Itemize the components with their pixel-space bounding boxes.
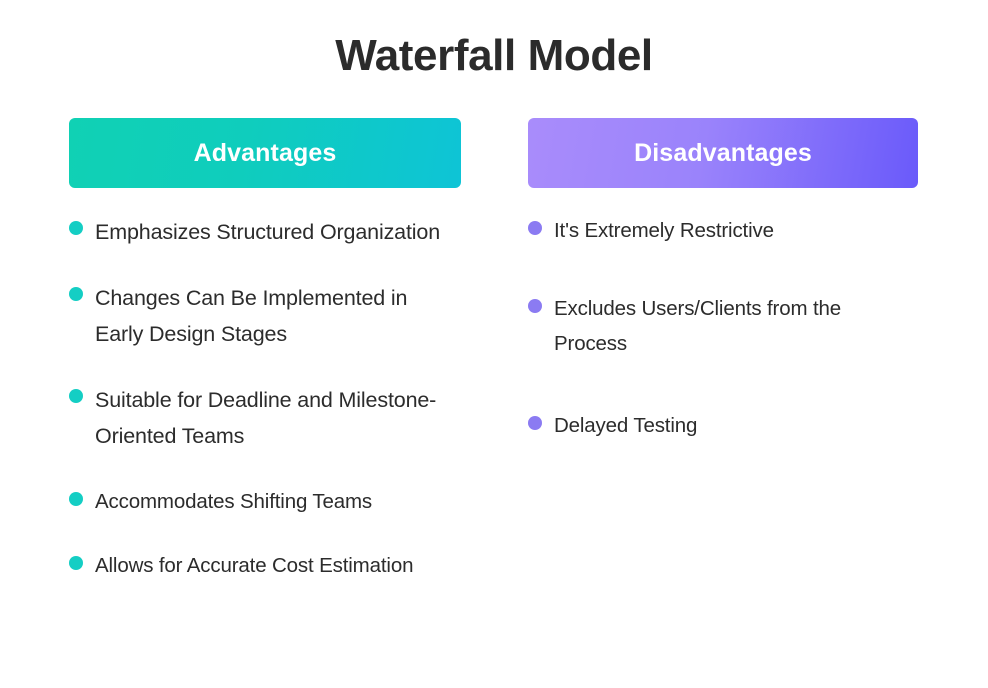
list-item: Delayed Testing [528, 409, 918, 443]
bullet-dot-icon [69, 556, 83, 570]
list-item-label: Accommodates Shifting Teams [95, 485, 372, 519]
bullet-dot-icon [69, 287, 83, 301]
list-item: Suitable for Deadline and Milestone-Orie… [69, 382, 461, 454]
list-item-label: Changes Can Be Implemented in Early Desi… [95, 280, 461, 352]
list-item-label: Allows for Accurate Cost Estimation [95, 549, 413, 583]
list-item-label: Delayed Testing [554, 409, 697, 443]
bullet-dot-icon [528, 299, 542, 313]
bullet-dot-icon [69, 221, 83, 235]
list-item-label: Excludes Users/Clients from the Process [554, 292, 918, 361]
list-item-label: Suitable for Deadline and Milestone-Orie… [95, 382, 461, 454]
list-item: Changes Can Be Implemented in Early Desi… [69, 280, 461, 352]
list-item: Excludes Users/Clients from the Process [528, 292, 918, 361]
advantages-header: Advantages [69, 118, 461, 188]
bullet-dot-icon [69, 492, 83, 506]
list-item: Accommodates Shifting Teams [69, 485, 461, 519]
bullet-dot-icon [528, 221, 542, 235]
list-item: Allows for Accurate Cost Estimation [69, 549, 461, 583]
disadvantages-column: Disadvantages It's Extremely Restrictive… [528, 118, 918, 488]
list-item-label: It's Extremely Restrictive [554, 214, 774, 248]
list-item: It's Extremely Restrictive [528, 214, 918, 248]
advantages-list: Emphasizes Structured Organization Chang… [69, 214, 461, 583]
page-title: Waterfall Model [0, 32, 988, 80]
bullet-dot-icon [69, 389, 83, 403]
advantages-column: Advantages Emphasizes Structured Organiz… [69, 118, 461, 613]
list-item: Emphasizes Structured Organization [69, 214, 461, 250]
list-item-label: Emphasizes Structured Organization [95, 214, 440, 250]
disadvantages-list: It's Extremely Restrictive Excludes User… [528, 214, 918, 444]
disadvantages-header: Disadvantages [528, 118, 918, 188]
bullet-dot-icon [528, 416, 542, 430]
